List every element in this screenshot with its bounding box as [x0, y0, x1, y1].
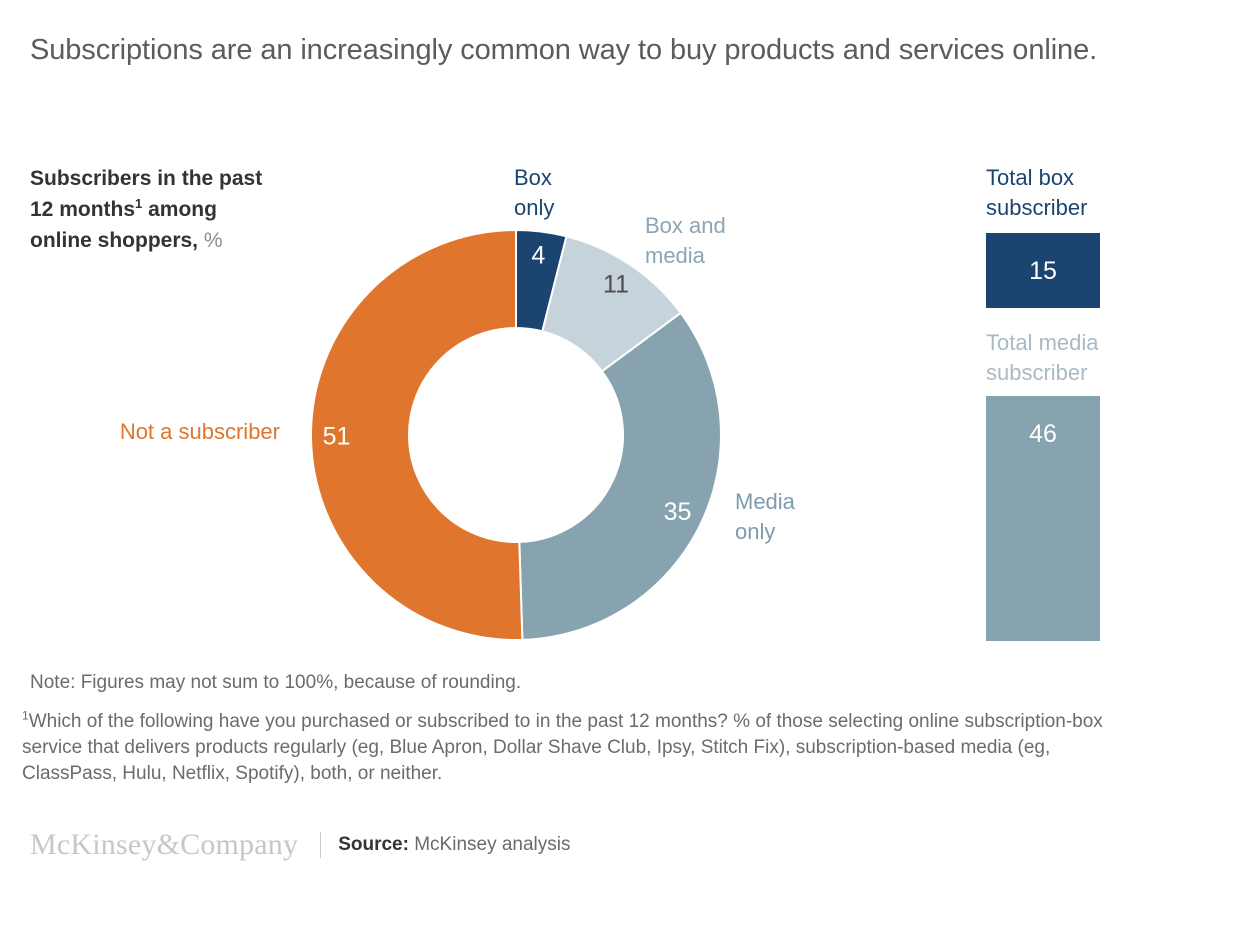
mckinsey-logo: McKinsey&Company: [30, 828, 298, 862]
callout-line-1: Not a subscriber: [40, 417, 280, 447]
bar-label-total-media-subscriber: Total media subscriber: [986, 328, 1186, 388]
bar-value-total-box-subscriber: 15: [1029, 257, 1057, 285]
footer: McKinsey&Company Source: McKinsey analys…: [30, 825, 571, 865]
chart-footnote: 1Which of the following have you purchas…: [22, 709, 1132, 787]
bar-total-media-subscriber: 46: [986, 396, 1100, 641]
callout-line-1: Media: [735, 487, 895, 517]
donut-callout-not-a-subscriber: Not a subscriber: [40, 417, 280, 447]
subtitle-line-3: online shoppers, %: [30, 225, 330, 256]
bar-label-line-1: Total box: [986, 163, 1186, 193]
subtitle-line-1: Subscribers in the past: [30, 163, 330, 194]
donut-callout-box-and-media: Box and media: [645, 211, 815, 271]
donut-slice-value: 51: [323, 422, 351, 450]
bar-label-line-1: Total media: [986, 328, 1186, 358]
source-label: Source:: [338, 834, 409, 855]
donut-callout-media-only: Media only: [735, 487, 895, 547]
footnote-text: Which of the following have you purchase…: [22, 711, 1103, 784]
subtitle-line-2-pre: 12 months: [30, 198, 135, 221]
page-title: Subscriptions are an increasingly common…: [30, 30, 1140, 70]
donut-chart-svg: 4113551: [311, 230, 721, 640]
callout-line-2: only: [735, 517, 895, 547]
callout-line-1: Box: [514, 163, 634, 193]
subtitle-line-2-post: among: [142, 198, 217, 221]
donut-chart: 4113551: [311, 230, 721, 640]
subtitle-unit: %: [204, 229, 223, 252]
donut-slice-value: 35: [664, 498, 692, 526]
footer-divider: [320, 832, 321, 858]
subtitle-line-3-main: online shoppers,: [30, 229, 204, 252]
donut-slice: [519, 313, 721, 640]
bar-label-total-box-subscriber: Total box subscriber: [986, 163, 1186, 223]
chart-note: Note: Figures may not sum to 100%, becau…: [30, 669, 521, 696]
callout-line-1: Box and: [645, 211, 815, 241]
callout-line-2: media: [645, 241, 815, 271]
donut-callout-box-only: Box only: [514, 163, 634, 223]
bar-label-line-2: subscriber: [986, 358, 1186, 388]
donut-slice-value: 4: [531, 241, 545, 269]
callout-line-2: only: [514, 193, 634, 223]
bar-value-total-media-subscriber: 46: [1029, 420, 1057, 448]
source-line: Source: McKinsey analysis: [338, 834, 570, 856]
chart-subtitle: Subscribers in the past 12 months1 among…: [30, 163, 330, 256]
bar-total-box-subscriber: 15: [986, 233, 1100, 308]
footnote-marker-text: 1: [22, 709, 29, 723]
source-value: McKinsey analysis: [414, 834, 570, 855]
donut-slices: [311, 230, 721, 640]
bar-label-line-2: subscriber: [986, 193, 1186, 223]
subtitle-line-2: 12 months1 among: [30, 194, 330, 225]
donut-slice-value: 11: [603, 271, 629, 299]
